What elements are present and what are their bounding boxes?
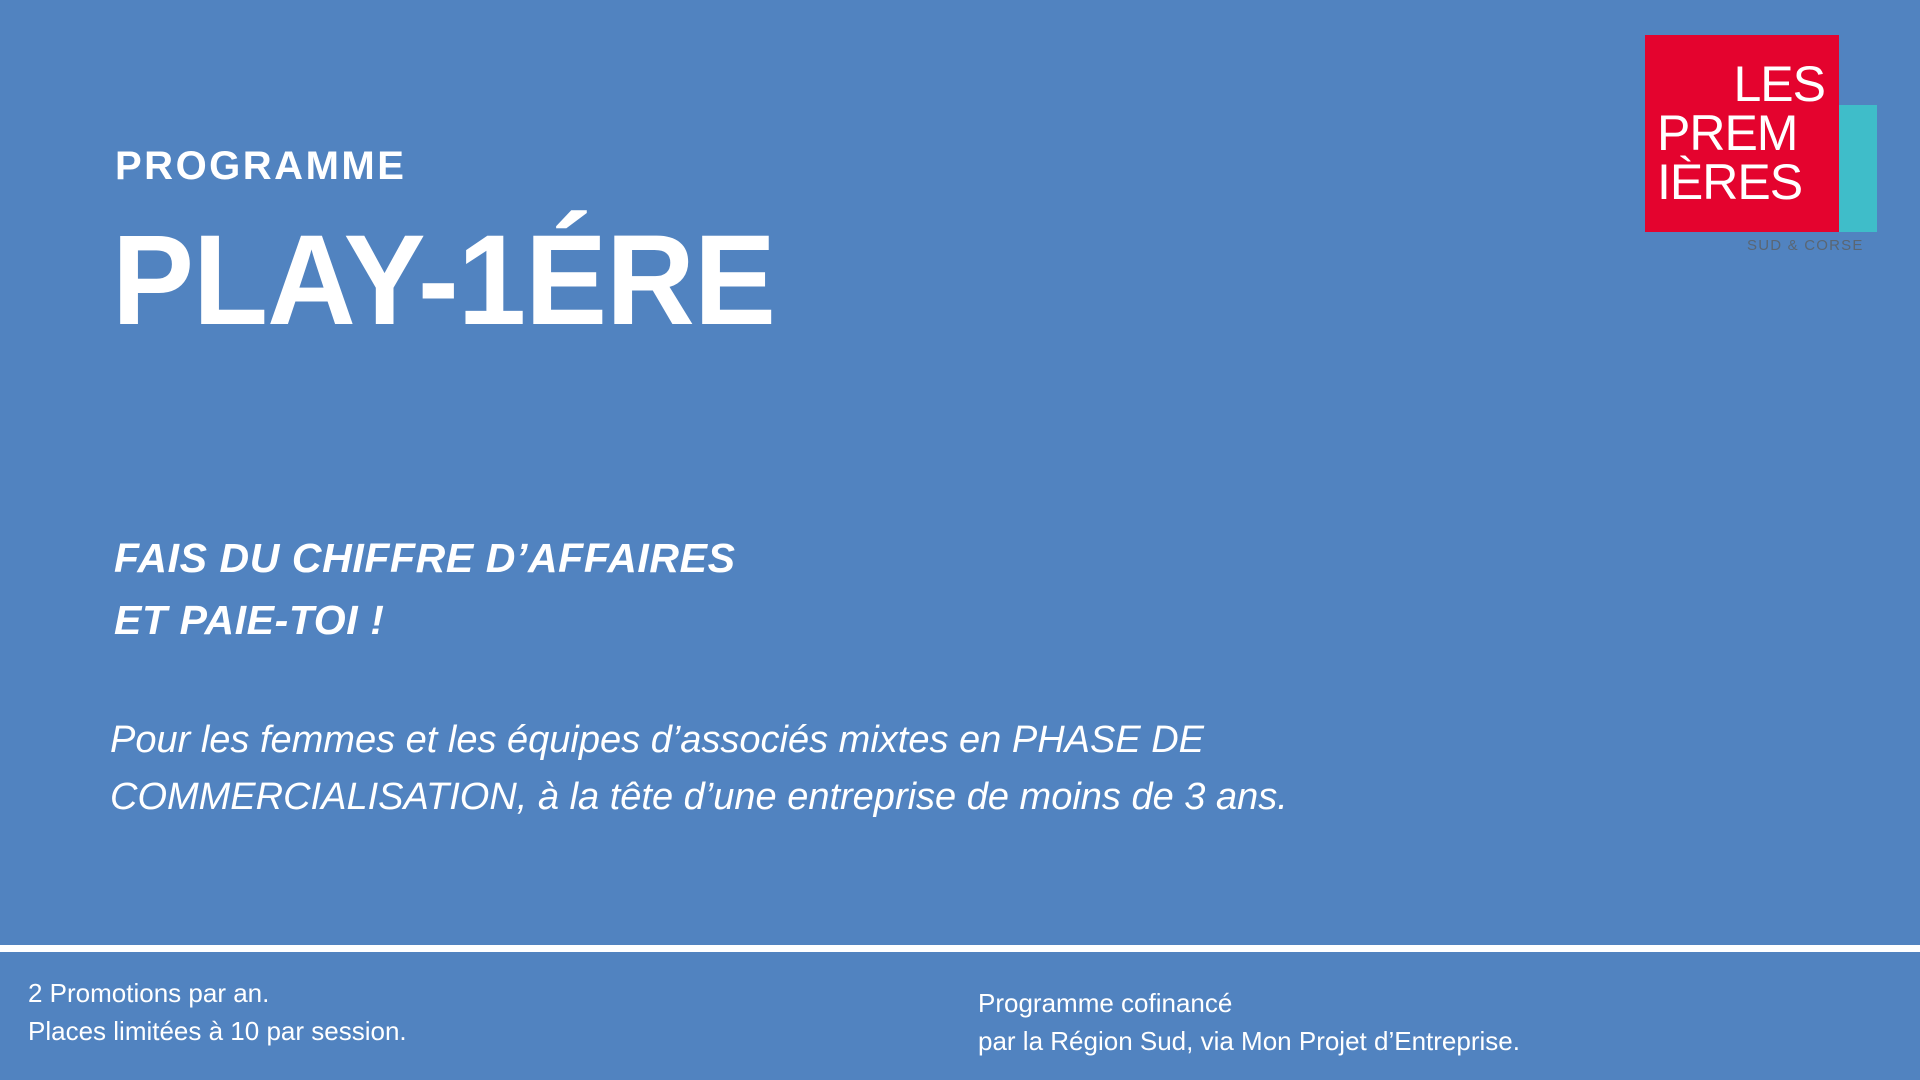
brand-line-prem: PREM bbox=[1657, 109, 1829, 158]
description-block: Pour les femmes et les équipes d’associé… bbox=[110, 712, 1710, 826]
brand-wordmark: LES PREM IÈRES bbox=[1645, 35, 1839, 232]
footer-left-text: 2 Promotions par an. Places limitées à 1… bbox=[28, 975, 407, 1051]
footer-center-line-2: par la Région Sud, via Mon Projet d’Entr… bbox=[978, 1023, 1520, 1061]
footer-divider bbox=[0, 945, 1920, 952]
footer-center-line-1: Programme cofinancé bbox=[978, 985, 1520, 1023]
description-line-2: COMMERCIALISATION, à la tête d’une entre… bbox=[110, 769, 1710, 826]
les-premieres-logo: LES PREM IÈRES SUD & CORSE bbox=[1645, 35, 1920, 280]
tagline-line-1: FAIS DU CHIFFRE D’AFFAIRES bbox=[114, 528, 736, 590]
program-eyebrow: PROGRAMME bbox=[115, 146, 406, 186]
description-line-1: Pour les femmes et les équipes d’associé… bbox=[110, 712, 1710, 769]
footer-left-line-1: 2 Promotions par an. bbox=[28, 975, 407, 1013]
slide-canvas: LES PREM IÈRES SUD & CORSE PROGRAMME PLA… bbox=[0, 0, 1920, 1080]
brand-line-les: LES bbox=[1657, 60, 1829, 109]
brand-line-ieres: IÈRES bbox=[1657, 158, 1829, 207]
page-title: PLAY-1ÉRE bbox=[112, 214, 775, 348]
footer-left-line-2: Places limitées à 10 par session. bbox=[28, 1013, 407, 1051]
tagline-block: FAIS DU CHIFFRE D’AFFAIRES ET PAIE-TOI ! bbox=[114, 528, 736, 651]
tagline-line-2: ET PAIE-TOI ! bbox=[114, 590, 736, 652]
footer-center-text: Programme cofinancé par la Région Sud, v… bbox=[978, 985, 1520, 1061]
footer: 2 Promotions par an. Places limitées à 1… bbox=[0, 952, 1920, 1080]
brand-subtitle: SUD & CORSE bbox=[1747, 237, 1864, 254]
